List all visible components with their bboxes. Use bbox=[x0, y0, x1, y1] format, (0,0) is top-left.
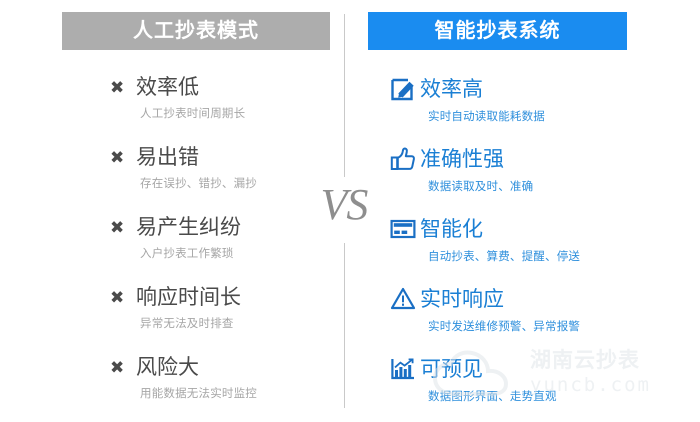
list-item: ✖ 风险大 用能数据无法实时监控 bbox=[110, 352, 338, 422]
list-item-title: 效率低 bbox=[136, 77, 199, 98]
cross-mark-icon: ✖ bbox=[110, 359, 136, 376]
list-item-head: ✖ 易出错 bbox=[110, 142, 338, 172]
cross-mark-glyph: ✖ bbox=[110, 149, 124, 166]
list-item-head: ✖ 易产生纠纷 bbox=[110, 212, 338, 242]
vertical-divider-bottom bbox=[344, 243, 345, 408]
list-item: 可预见 数据图形界面、走势直观 bbox=[386, 352, 686, 422]
bar-chart-icon bbox=[386, 356, 420, 382]
list-item-head: ✖ 响应时间长 bbox=[110, 282, 338, 312]
list-item-title: 易出错 bbox=[136, 147, 199, 168]
left-panel-list: ✖ 效率低 人工抄表时间周期长 ✖ 易出错 存在误抄、错抄、漏抄 ✖ 易产生纠纷 bbox=[110, 72, 338, 422]
list-item-subtitle: 人工抄表时间周期长 bbox=[140, 109, 338, 121]
cross-mark-icon: ✖ bbox=[110, 149, 136, 166]
credit-card-icon bbox=[386, 216, 420, 242]
edit-pencil-icon bbox=[386, 76, 420, 102]
list-item-subtitle: 用能数据无法实时监控 bbox=[140, 389, 338, 401]
list-item-head: 智能化 bbox=[386, 212, 686, 246]
list-item-head: 准确性强 bbox=[386, 142, 686, 176]
list-item: ✖ 响应时间长 异常无法及时排查 bbox=[110, 282, 338, 352]
list-item: ✖ 易产生纠纷 入户抄表工作繁琐 bbox=[110, 212, 338, 282]
list-item: 智能化 自动抄表、算费、提醒、停送 bbox=[386, 212, 686, 282]
warning-triangle-icon bbox=[386, 286, 420, 312]
cross-mark-glyph: ✖ bbox=[110, 79, 124, 96]
vertical-divider-top bbox=[344, 14, 345, 177]
list-item-head: 实时响应 bbox=[386, 282, 686, 316]
list-item-subtitle: 实时自动读取能耗数据 bbox=[428, 112, 686, 124]
right-panel-header-title: 智能抄表系统 bbox=[435, 21, 561, 41]
list-item-head: 可预见 bbox=[386, 352, 686, 386]
list-item-head: ✖ 风险大 bbox=[110, 352, 338, 382]
list-item-head: ✖ 效率低 bbox=[110, 72, 338, 102]
cross-mark-icon: ✖ bbox=[110, 79, 136, 96]
list-item-title: 易产生纠纷 bbox=[136, 217, 241, 238]
list-item: 效率高 实时自动读取能耗数据 bbox=[386, 72, 686, 142]
cross-mark-icon: ✖ bbox=[110, 289, 136, 306]
list-item-subtitle: 数据图形界面、走势直观 bbox=[428, 392, 686, 404]
left-panel-header-title: 人工抄表模式 bbox=[133, 21, 259, 41]
list-item-title: 响应时间长 bbox=[136, 287, 241, 308]
cross-mark-glyph: ✖ bbox=[110, 289, 124, 306]
list-item: ✖ 效率低 人工抄表时间周期长 bbox=[110, 72, 338, 142]
right-panel-list: 效率高 实时自动读取能耗数据 准确性强 数据读取及时、准确 bbox=[386, 72, 686, 422]
cross-mark-glyph: ✖ bbox=[110, 219, 124, 236]
cross-mark-glyph: ✖ bbox=[110, 359, 124, 376]
list-item-subtitle: 实时发送维修预警、异常报警 bbox=[428, 322, 686, 334]
cross-mark-icon: ✖ bbox=[110, 219, 136, 236]
list-item-subtitle: 自动抄表、算费、提醒、停送 bbox=[428, 252, 686, 264]
thumbs-up-icon bbox=[386, 146, 420, 172]
list-item: 准确性强 数据读取及时、准确 bbox=[386, 142, 686, 212]
list-item: ✖ 易出错 存在误抄、错抄、漏抄 bbox=[110, 142, 338, 212]
comparison-infographic: 人工抄表模式 智能抄表系统 VS ✖ 效率低 人工抄表时间周期长 ✖ 易出错 bbox=[0, 0, 700, 422]
list-item-head: 效率高 bbox=[386, 72, 686, 106]
list-item-title: 准确性强 bbox=[420, 149, 504, 170]
list-item-title: 风险大 bbox=[136, 357, 199, 378]
list-item-title: 智能化 bbox=[420, 219, 483, 240]
list-item: 实时响应 实时发送维修预警、异常报警 bbox=[386, 282, 686, 352]
list-item-title: 实时响应 bbox=[420, 289, 504, 310]
list-item-subtitle: 入户抄表工作繁琐 bbox=[140, 249, 338, 261]
left-panel-header: 人工抄表模式 bbox=[62, 12, 330, 50]
list-item-title: 效率高 bbox=[420, 79, 483, 100]
list-item-subtitle: 异常无法及时排查 bbox=[140, 319, 338, 331]
right-panel-header: 智能抄表系统 bbox=[368, 12, 627, 50]
list-item-subtitle: 存在误抄、错抄、漏抄 bbox=[140, 179, 338, 191]
list-item-subtitle: 数据读取及时、准确 bbox=[428, 182, 686, 194]
list-item-title: 可预见 bbox=[420, 359, 483, 380]
